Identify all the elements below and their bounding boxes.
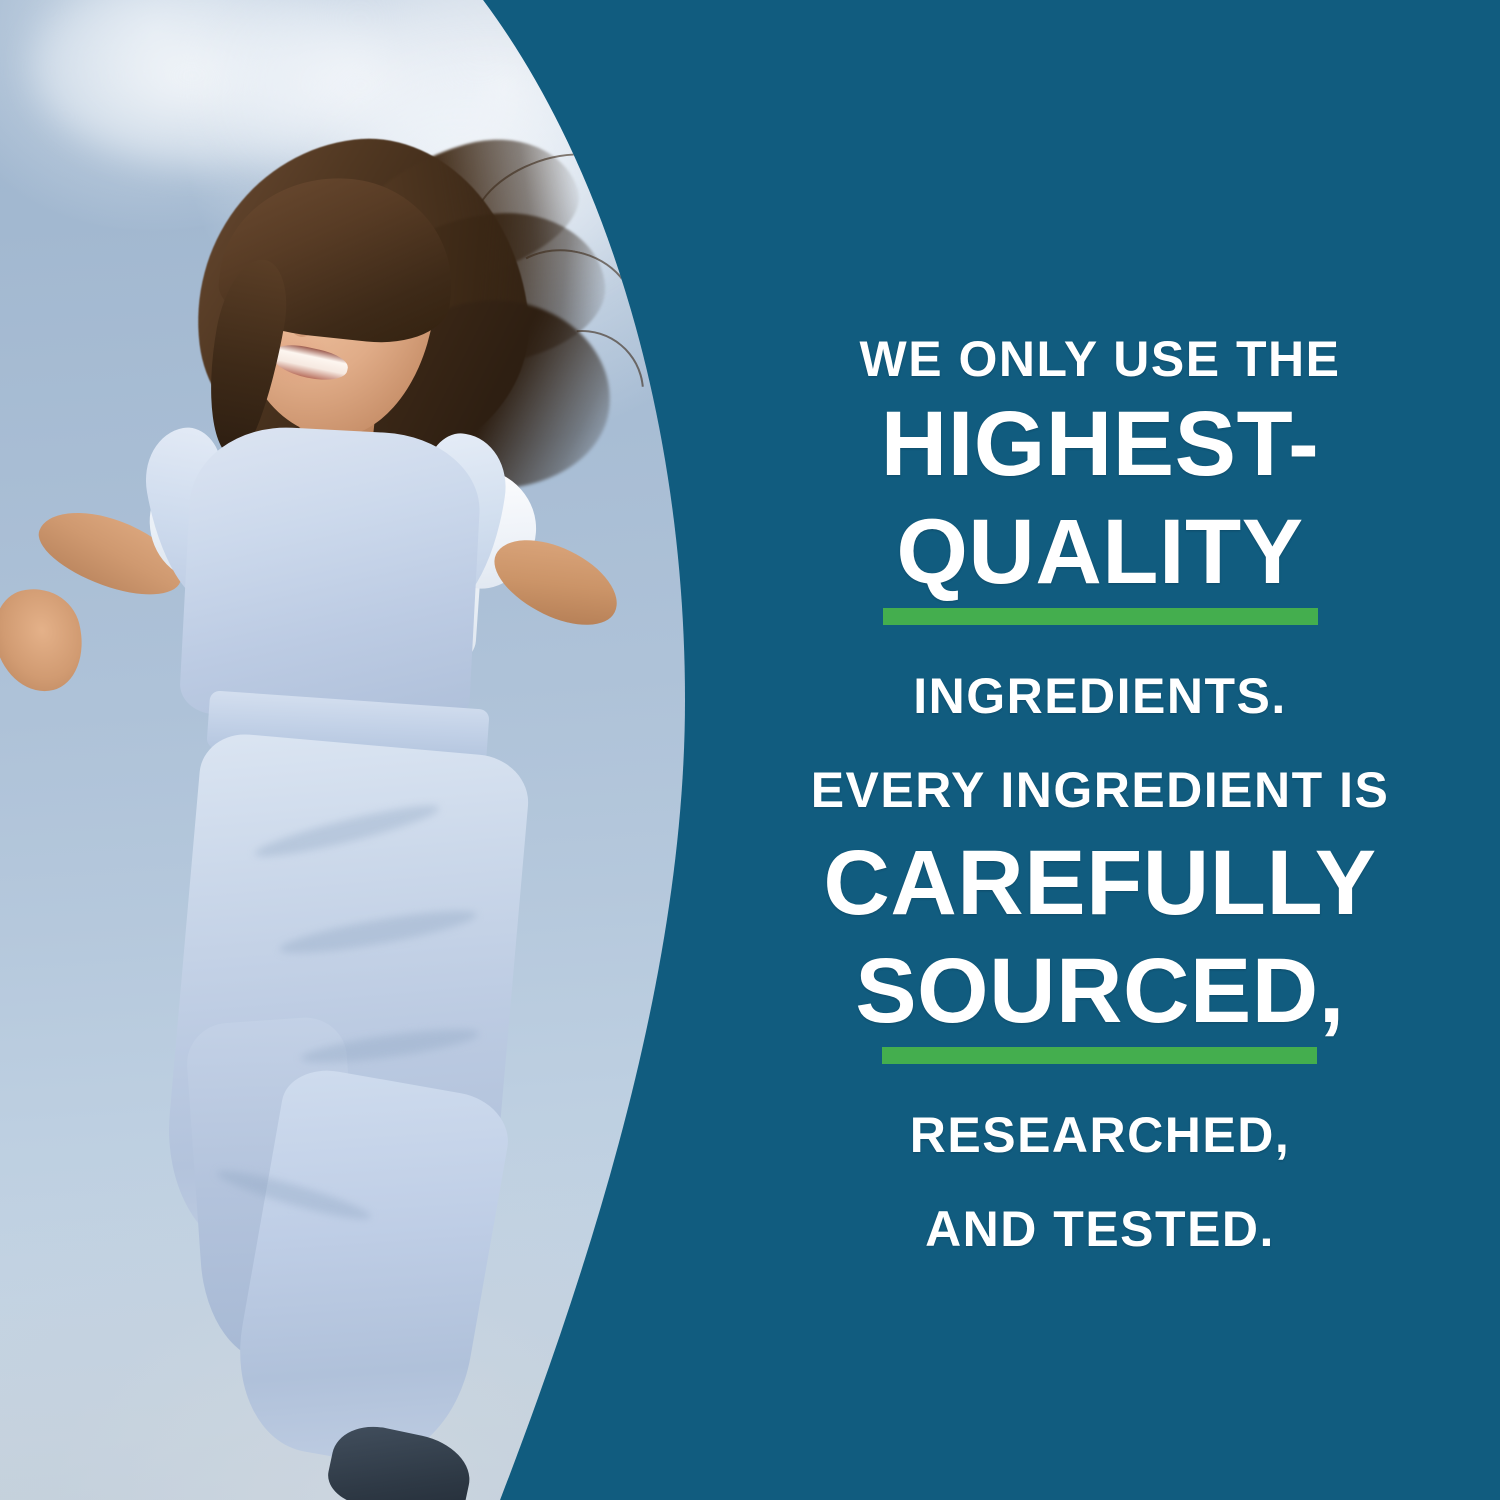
hero-photo <box>0 0 700 1500</box>
headline-line-8: RESEARCHED, <box>910 1110 1290 1160</box>
headline-line-5: EVERY INGREDIENT IS <box>811 765 1390 815</box>
girl-figure <box>0 0 700 1500</box>
headline-line-6: CAREFULLY <box>823 837 1376 929</box>
headline-line-9: AND TESTED. <box>925 1204 1275 1254</box>
green-underline-accent <box>882 1047 1317 1064</box>
quality-underline-group: QUALITY <box>883 506 1318 625</box>
jumpsuit-bodice <box>179 423 484 728</box>
headline-line-4: INGREDIENTS. <box>913 671 1287 721</box>
headline-line-2: HIGHEST- <box>881 398 1319 490</box>
green-underline-accent <box>883 608 1318 625</box>
copy-panel: WE ONLY USE THE HIGHEST- QUALITY INGREDI… <box>700 0 1500 1500</box>
headline-line-7: SOURCED, <box>855 945 1345 1037</box>
marketing-banner: WE ONLY USE THE HIGHEST- QUALITY INGREDI… <box>0 0 1500 1500</box>
left-hand <box>0 579 93 701</box>
headline-line-1: WE ONLY USE THE <box>860 334 1341 384</box>
sourced-underline-group: SOURCED, <box>855 945 1345 1064</box>
headline-line-3: QUALITY <box>883 506 1318 598</box>
